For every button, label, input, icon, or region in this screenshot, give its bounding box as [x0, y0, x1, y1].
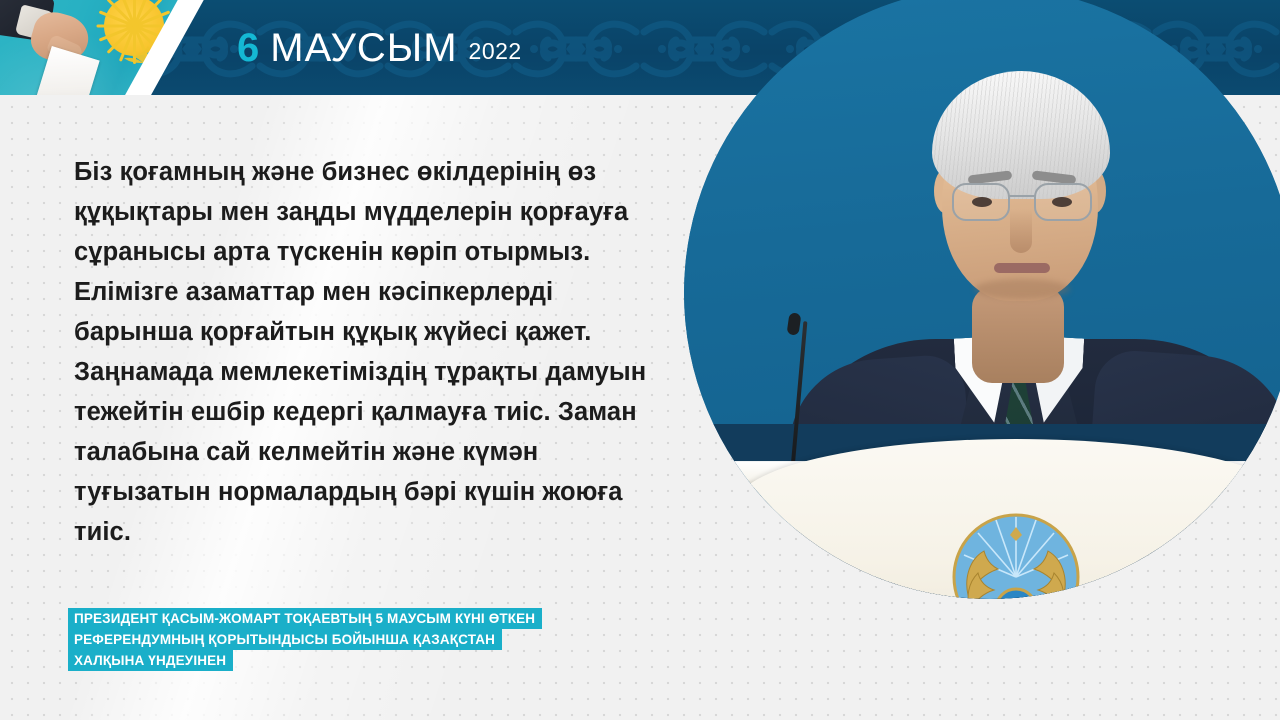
mouth	[994, 263, 1050, 273]
header-date-title: 6 МАУСЫМ 2022	[237, 0, 522, 95]
slide-canvas: 6 МАУСЫМ 2022 Біз қоғамның және бизнес ө…	[0, 0, 1280, 720]
podium	[736, 439, 1280, 599]
header-day: 6	[237, 28, 259, 68]
quote-text: Біз қоғамның және бизнес өкілдерінің өз …	[74, 152, 654, 552]
neck	[972, 287, 1064, 383]
kazakhstan-state-emblem-icon	[950, 511, 1082, 599]
hair	[932, 71, 1110, 199]
header-year: 2022	[469, 32, 522, 63]
caption-line-1: ПРЕЗИДЕНТ ҚАСЫМ-ЖОМАРТ ТОҚАЕВТЫҢ 5 МАУСЫ…	[68, 608, 542, 629]
nose	[1010, 209, 1032, 253]
caption-line-3: ХАЛҚЫНА ҮНДЕУІНЕН	[68, 650, 233, 671]
caption-line-2: РЕФЕРЕНДУМНЫҢ ҚОРЫТЫНДЫСЫ БОЙЫНША ҚАЗАҚС…	[68, 629, 502, 650]
chin-shadow	[974, 279, 1070, 299]
caption-block: ПРЕЗИДЕНТ ҚАСЫМ-ЖОМАРТ ТОҚАЕВТЫҢ 5 МАУСЫ…	[68, 608, 542, 671]
president-portrait-photo	[684, 0, 1280, 599]
header-month: МАУСЫМ	[270, 28, 457, 68]
